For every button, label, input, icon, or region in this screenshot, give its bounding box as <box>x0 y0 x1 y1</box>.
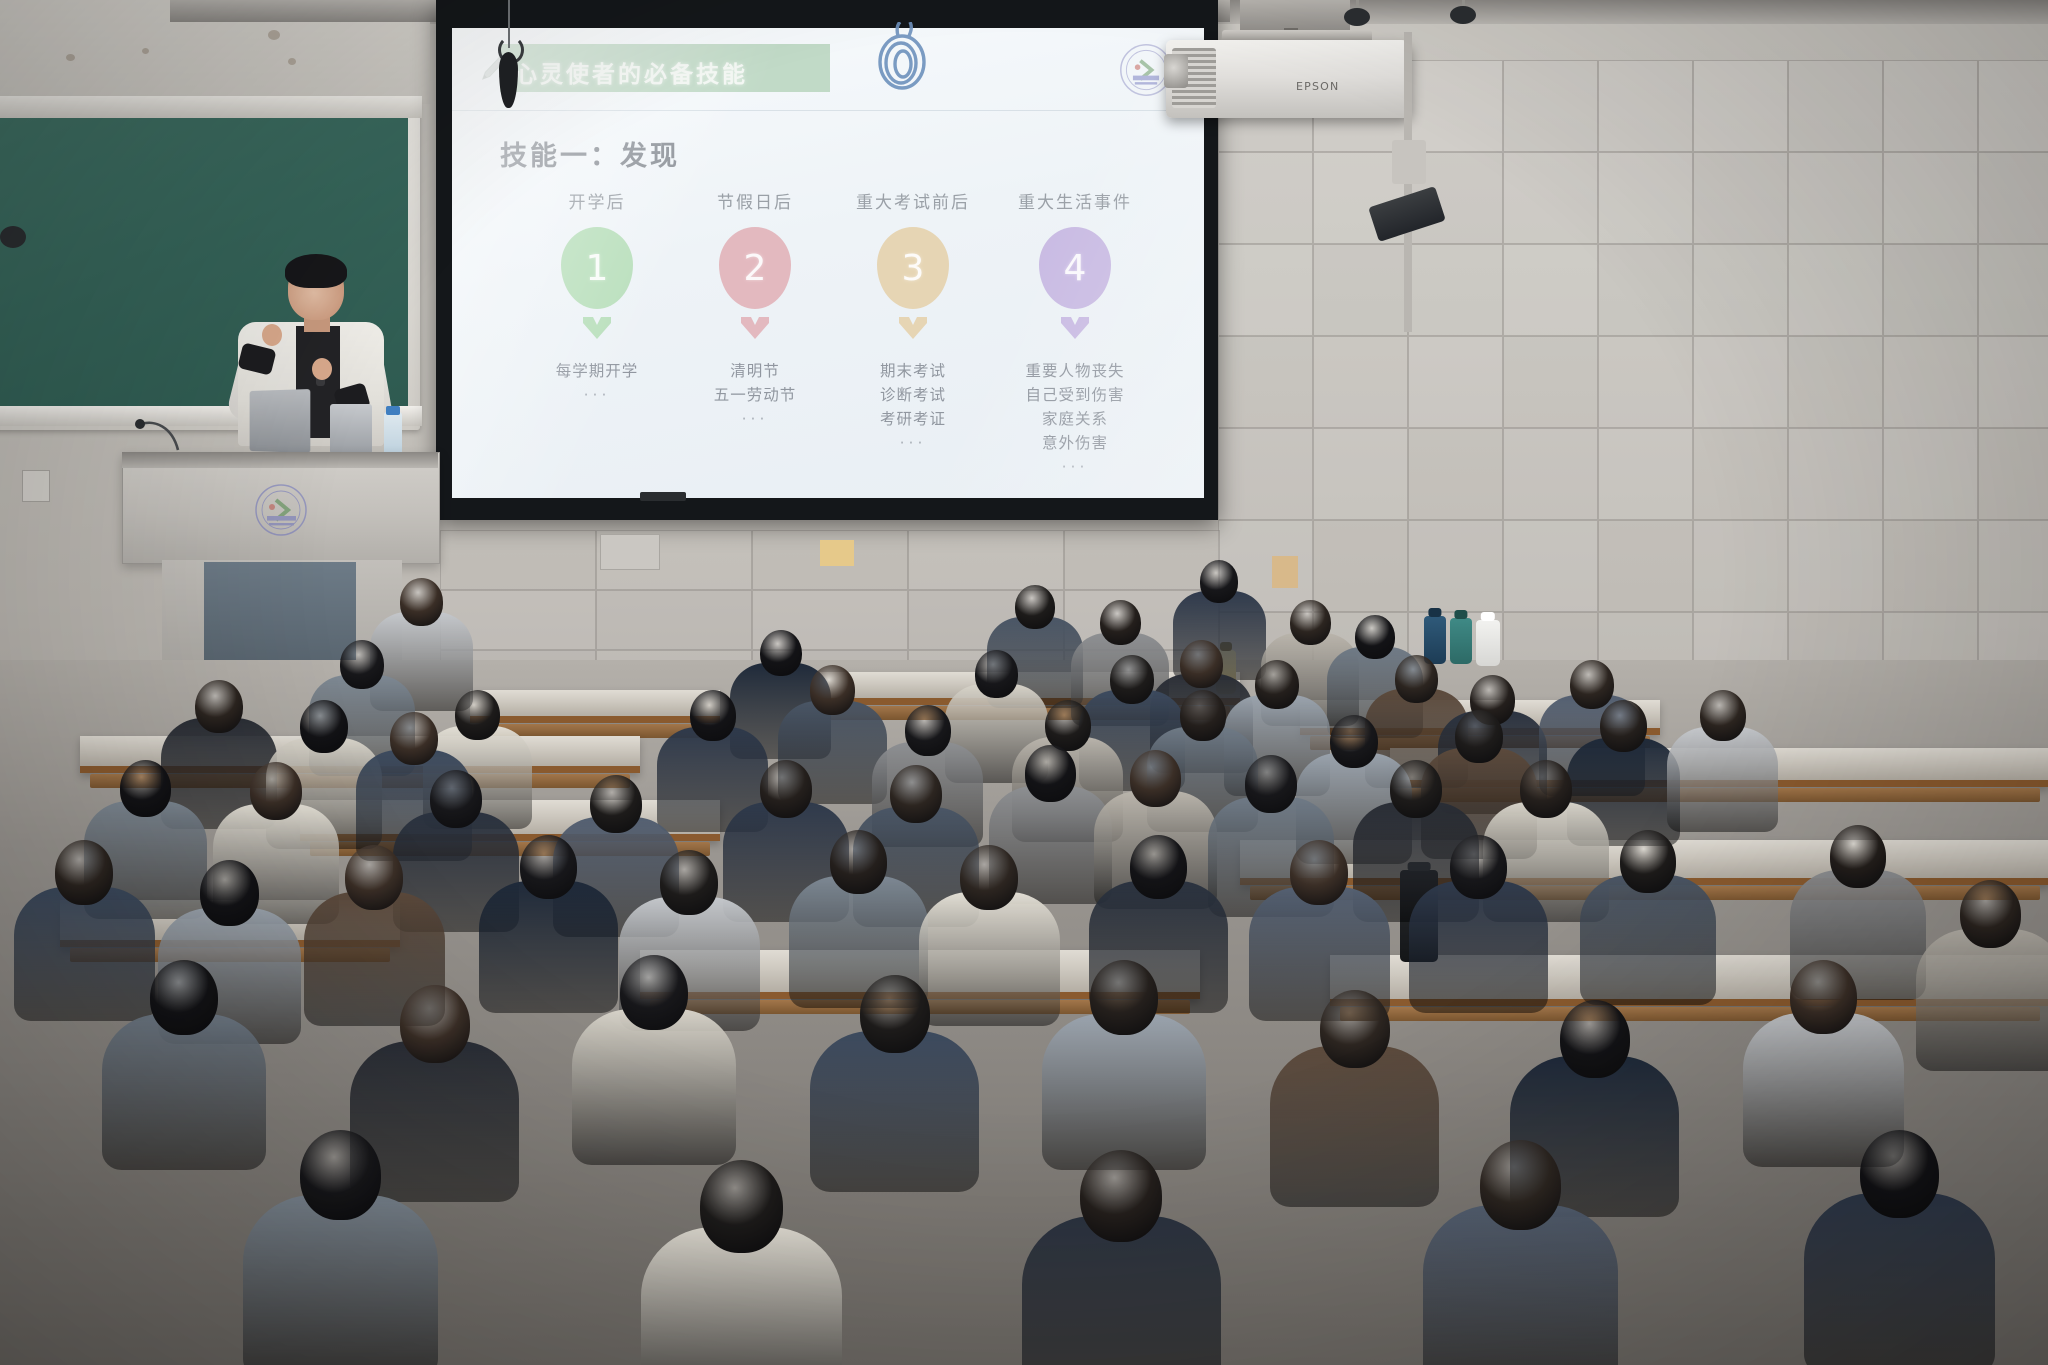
slide-column-heading: 重大生活事件 <box>990 188 1160 213</box>
ceiling-camera-icon <box>1344 8 1370 26</box>
audience-member-head <box>1860 1130 1939 1218</box>
gooseneck-microphone-icon <box>128 418 182 452</box>
slide-column-items: 期末考试诊断考试考研考证··· <box>828 359 998 455</box>
audience-member-body <box>102 1014 266 1170</box>
slide-step-bubble: 1 <box>561 227 633 309</box>
audience-member-body <box>1270 1046 1439 1207</box>
audience-member-head <box>1180 690 1226 741</box>
wall-access-panel <box>600 534 660 570</box>
slide-column: 开学后1每学期开学··· <box>512 188 682 407</box>
podium-water-bottle <box>384 412 402 456</box>
wall-tile <box>1788 336 1883 428</box>
audience-member-head <box>1320 990 1390 1068</box>
slide-column-item: ··· <box>990 455 1160 479</box>
slide-column-heading: 重大考试前后 <box>828 188 998 213</box>
audience-member-head <box>250 762 302 820</box>
audience-member-head <box>1255 660 1299 709</box>
desk <box>470 690 720 723</box>
audience-member-head <box>195 680 243 733</box>
wall-tile <box>596 590 752 650</box>
wall-tile <box>1788 428 1883 520</box>
podium-water-bottle-cap <box>386 406 400 415</box>
wall-tile <box>908 530 1064 590</box>
wall-tile <box>1693 244 1788 336</box>
wall-tile <box>1978 244 2048 336</box>
wall-tile <box>1883 520 1978 612</box>
audience-member-body <box>479 881 618 1013</box>
audience-member-head <box>975 650 1018 698</box>
audience-member-head <box>1790 960 1857 1034</box>
audience-member-head <box>1290 600 1331 645</box>
wall-tile <box>440 530 596 590</box>
audience-member-head <box>300 1130 381 1220</box>
audience-member-head <box>455 690 500 740</box>
audience-member-head <box>430 770 482 828</box>
audience-member-head <box>300 700 348 753</box>
audience-member-head <box>1450 835 1507 899</box>
wall-tile <box>1408 336 1503 428</box>
wall-tile <box>1883 60 1978 152</box>
wall-tile <box>1218 428 1313 520</box>
chevron-down-icon <box>739 315 771 341</box>
slide-column-items: 每学期开学··· <box>512 359 682 407</box>
audience-member-head <box>1015 585 1055 629</box>
wall-tile <box>1978 520 2048 612</box>
wall-tile <box>1408 520 1503 612</box>
wall-tile <box>1408 60 1503 152</box>
slide-column-items: 重要人物丧失自己受到伤害家庭关系意外伤害··· <box>990 359 1160 479</box>
slide-step-number: 4 <box>1064 248 1087 289</box>
chevron-down-icon <box>581 315 613 341</box>
slide-column-items: 清明节五一劳动节··· <box>670 359 840 431</box>
blackboard-top-rail <box>0 96 422 118</box>
audience-member-head <box>1355 615 1395 659</box>
slide-column-item: 重要人物丧失 <box>990 359 1160 383</box>
slide-column-item: 期末考试 <box>828 359 998 383</box>
screen-pull-tab <box>640 492 686 501</box>
presenter-right-hand <box>312 358 332 380</box>
wall-tile <box>1313 520 1408 612</box>
ceiling-camera-icon <box>1450 6 1476 24</box>
projector-lens <box>1164 54 1188 88</box>
coiled-cable-icon <box>868 22 938 96</box>
wall-tile <box>1978 60 2048 152</box>
audience-member-head <box>1200 560 1238 603</box>
wall-tile <box>1978 428 2048 520</box>
wall-tile <box>1598 520 1693 612</box>
slide-column: 重大生活事件4重要人物丧失自己受到伤害家庭关系意外伤害··· <box>990 188 1160 479</box>
slide-column: 节假日后2清明节五一劳动节··· <box>670 188 840 431</box>
podium-monitor <box>330 404 372 454</box>
audience-member-head <box>1620 830 1676 893</box>
wall-tile <box>1598 428 1693 520</box>
slide-step-bubble: 4 <box>1039 227 1111 309</box>
audience-member-head <box>120 760 171 817</box>
slide-step-number: 1 <box>586 248 609 289</box>
audience-member-head <box>1290 840 1348 905</box>
wall-tile <box>1218 152 1313 244</box>
audience-member-head <box>1600 700 1647 752</box>
wall-speaker-left-icon <box>0 226 26 248</box>
wall-tile <box>1313 428 1408 520</box>
slide-step-number: 3 <box>902 248 925 289</box>
wall-tile <box>1978 336 2048 428</box>
wall-sign <box>820 540 854 566</box>
wall-tile <box>1788 60 1883 152</box>
wall-tile <box>1313 244 1408 336</box>
wall-tile <box>1598 60 1693 152</box>
wall-tile <box>1503 60 1598 152</box>
audience-member-body <box>1804 1193 1996 1365</box>
water-bottle <box>1476 620 1500 666</box>
wall-tile <box>1978 152 2048 244</box>
audience-member-head <box>1045 700 1091 751</box>
audience-member-head <box>1830 825 1886 888</box>
audience-member-head <box>200 860 259 926</box>
wall-tile <box>1598 244 1693 336</box>
wall-tile <box>1408 244 1503 336</box>
audience-member-head <box>1330 715 1378 768</box>
audience-member-head <box>1025 745 1076 802</box>
slide-banner-title: 心灵使者的必备技能 <box>514 55 824 89</box>
audience-member-head <box>810 665 855 715</box>
audience-member-head <box>390 712 438 765</box>
audience-member-body <box>1916 929 2048 1071</box>
wall-tile <box>1064 530 1220 590</box>
wall-tile <box>1788 244 1883 336</box>
audience-member-head <box>1570 660 1614 709</box>
water-bottle <box>1424 616 1446 664</box>
audience-member-head <box>905 705 951 756</box>
audience-member-head <box>1080 1150 1162 1242</box>
presenter-hair <box>285 254 347 288</box>
audience-member-head <box>760 760 812 818</box>
slide-column-item: 家庭关系 <box>990 407 1160 431</box>
audience-member-body <box>243 1195 438 1365</box>
audience-member-head <box>1390 760 1442 818</box>
wall-tile <box>1503 244 1598 336</box>
audience-member-head <box>760 630 802 676</box>
projector-brand-label: EPSON <box>1296 80 1339 93</box>
wall-tile <box>1598 152 1693 244</box>
wall-tile <box>1693 152 1788 244</box>
wall-tile <box>1598 336 1693 428</box>
water-bottle <box>1450 618 1472 664</box>
audience-member-head <box>400 578 443 626</box>
slide-column-item: 每学期开学 <box>512 359 682 383</box>
wall-tile <box>1883 152 1978 244</box>
audience-member-head <box>860 975 930 1053</box>
audience-member-body <box>919 892 1060 1026</box>
audience-member-head <box>1455 710 1503 763</box>
slide-column-item: 自己受到伤害 <box>990 383 1160 407</box>
audience-member-head <box>690 690 736 741</box>
wall-tile <box>1503 428 1598 520</box>
school-crest-icon <box>248 482 314 538</box>
slide-column-heading: 开学后 <box>512 188 682 213</box>
lectern-top-edge <box>122 452 438 468</box>
audience-member-head <box>590 775 642 833</box>
audience-member-head <box>960 845 1018 910</box>
bottle-cap <box>1481 612 1495 621</box>
audience-member-head <box>1090 960 1158 1035</box>
slide-column-item: ··· <box>670 407 840 431</box>
wall-tile <box>1218 244 1313 336</box>
audience-member-head <box>620 955 688 1030</box>
audience-member-head <box>700 1160 783 1253</box>
audience-member-head <box>1245 755 1297 813</box>
audience-member-head <box>1100 600 1141 645</box>
audience-member-head <box>1560 1000 1630 1078</box>
slide-column-group: 开学后1每学期开学···节假日后2清明节五一劳动节···重大考试前后3期末考试诊… <box>490 188 1190 488</box>
slide-column-item: 考研考证 <box>828 407 998 431</box>
wall-tile <box>1883 336 1978 428</box>
bottle-cap <box>1428 608 1441 617</box>
wall-tile <box>1883 244 1978 336</box>
wall-tile <box>1503 152 1598 244</box>
audience-member-body <box>1042 1014 1206 1170</box>
audience-member-body <box>1580 875 1716 1005</box>
audience-member-head <box>150 960 218 1035</box>
wall-tile <box>1408 428 1503 520</box>
slide-step-bubble: 2 <box>719 227 791 309</box>
slide-column-item: 五一劳动节 <box>670 383 840 407</box>
audience-member-head <box>830 830 887 894</box>
wall-socket <box>22 470 50 502</box>
wall-tile <box>1693 520 1788 612</box>
audience-member-head <box>1700 690 1746 741</box>
slide-column-item: 清明节 <box>670 359 840 383</box>
audience-member-head <box>1110 655 1154 704</box>
wall-tile <box>1883 428 1978 520</box>
audience-member-body <box>1409 881 1548 1013</box>
audience-member-body <box>572 1009 736 1165</box>
audience-member-head <box>520 835 577 899</box>
audience-member-head <box>400 985 470 1063</box>
audience-member-head <box>1480 1140 1561 1230</box>
slide-column-item: 诊断考试 <box>828 383 998 407</box>
slide-column-item: ··· <box>828 431 998 455</box>
audience-member-head <box>1130 835 1187 899</box>
wall-tile <box>1693 60 1788 152</box>
chevron-down-icon <box>1059 315 1091 341</box>
audience-member-head <box>890 765 942 823</box>
wall-tile <box>1788 520 1883 612</box>
audience-member-head <box>1130 750 1181 807</box>
audience-member-body <box>1667 727 1778 833</box>
audience-member-head <box>1960 880 2021 948</box>
slide-step-number: 2 <box>744 248 767 289</box>
audience-member-head <box>345 845 403 910</box>
bottle-cap <box>1454 610 1467 619</box>
wall-tile <box>1313 336 1408 428</box>
conduit-junction-box <box>1392 140 1426 184</box>
wall-tile <box>1693 428 1788 520</box>
slide-column-item: ··· <box>512 383 682 407</box>
wall-sign-secondary <box>1272 556 1298 588</box>
wall-tile <box>1788 152 1883 244</box>
audience-member-head <box>55 840 113 905</box>
audience-member-head <box>1520 760 1572 818</box>
chevron-down-icon <box>897 315 929 341</box>
wall-tile <box>1218 336 1313 428</box>
slide-section-title: 技能一：发现 <box>500 134 680 173</box>
audience-member-head <box>1395 655 1438 703</box>
wall-tile <box>1503 520 1598 612</box>
wall-tile <box>1693 336 1788 428</box>
slide-divider <box>452 110 1204 111</box>
audience-member-body <box>14 887 155 1021</box>
slide-column-heading: 节假日后 <box>670 188 840 213</box>
presenter-left-hand <box>262 324 282 346</box>
slide-column-item: 意外伤害 <box>990 431 1160 455</box>
audience-member-head <box>340 640 384 689</box>
slide-column: 重大考试前后3期末考试诊断考试考研考证··· <box>828 188 998 455</box>
slide-step-bubble: 3 <box>877 227 949 309</box>
audience-member-head <box>1180 640 1223 688</box>
presentation-slide: 心灵使者的必备技能 技能一：发现 开学后1每学期开学···节假日后2清明节五一劳… <box>452 28 1204 498</box>
audience-member-body <box>810 1031 979 1192</box>
audience-member-head <box>660 850 718 915</box>
wall-tile <box>1503 336 1598 428</box>
podium-laptop <box>250 389 311 453</box>
lecture-hall-photo: 心灵使者的必备技能 技能一：发现 开学后1每学期开学···节假日后2清明节五一劳… <box>0 0 2048 1365</box>
